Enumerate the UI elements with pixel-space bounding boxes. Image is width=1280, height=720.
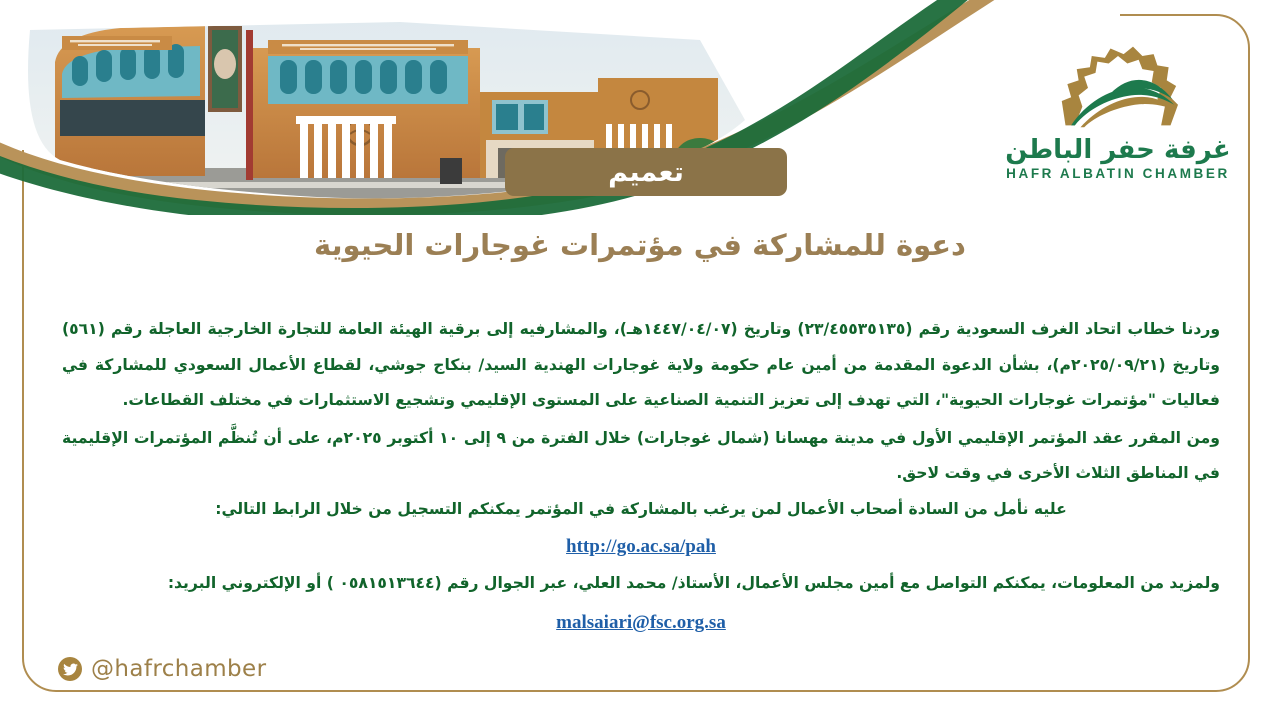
contact-email-link[interactable]: malsaiari@fsc.org.sa (556, 605, 726, 641)
twitter-icon[interactable] (58, 657, 82, 681)
contact-line: ولمزيد من المعلومات، يمكنكم التواصل مع أ… (62, 566, 1220, 602)
paragraph-1: وردنا خطاب اتحاد الغرف السعودية رقم (٢٣/… (62, 312, 1220, 419)
page-title: دعوة للمشاركة في مؤتمرات غوجارات الحيوية (0, 228, 1280, 262)
social-footer[interactable]: @hafrchamber (58, 656, 266, 682)
registration-link[interactable]: http://go.ac.sa/pah (566, 529, 716, 565)
document-type-badge: تعميم (505, 148, 787, 196)
twitter-bird-glyph (63, 663, 78, 676)
logo-name-arabic: غرفة حفر الباطن (998, 136, 1238, 165)
registration-intro: عليه نأمل من السادة أصحاب الأعمال لمن ير… (62, 492, 1220, 528)
document-body: وردنا خطاب اتحاد الغرف السعودية رقم (٢٣/… (62, 312, 1220, 642)
contact-email-row: malsaiari@fsc.org.sa (62, 605, 1220, 642)
registration-link-row: http://go.ac.sa/pah (62, 529, 1220, 566)
twitter-handle[interactable]: @hafrchamber (91, 656, 266, 682)
chamber-logo: غرفة حفر الباطن HAFR ALBATIN CHAMBER (998, 38, 1238, 181)
chamber-logo-mark-icon (1043, 38, 1193, 134)
paragraph-2: ومن المقرر عقد المؤتمر الإقليمي الأول في… (62, 421, 1220, 492)
logo-name-english: HAFR ALBATIN CHAMBER (998, 166, 1238, 181)
circular-document: غرفة حفر الباطن HAFR ALBATIN CHAMBER تعم… (0, 0, 1280, 720)
